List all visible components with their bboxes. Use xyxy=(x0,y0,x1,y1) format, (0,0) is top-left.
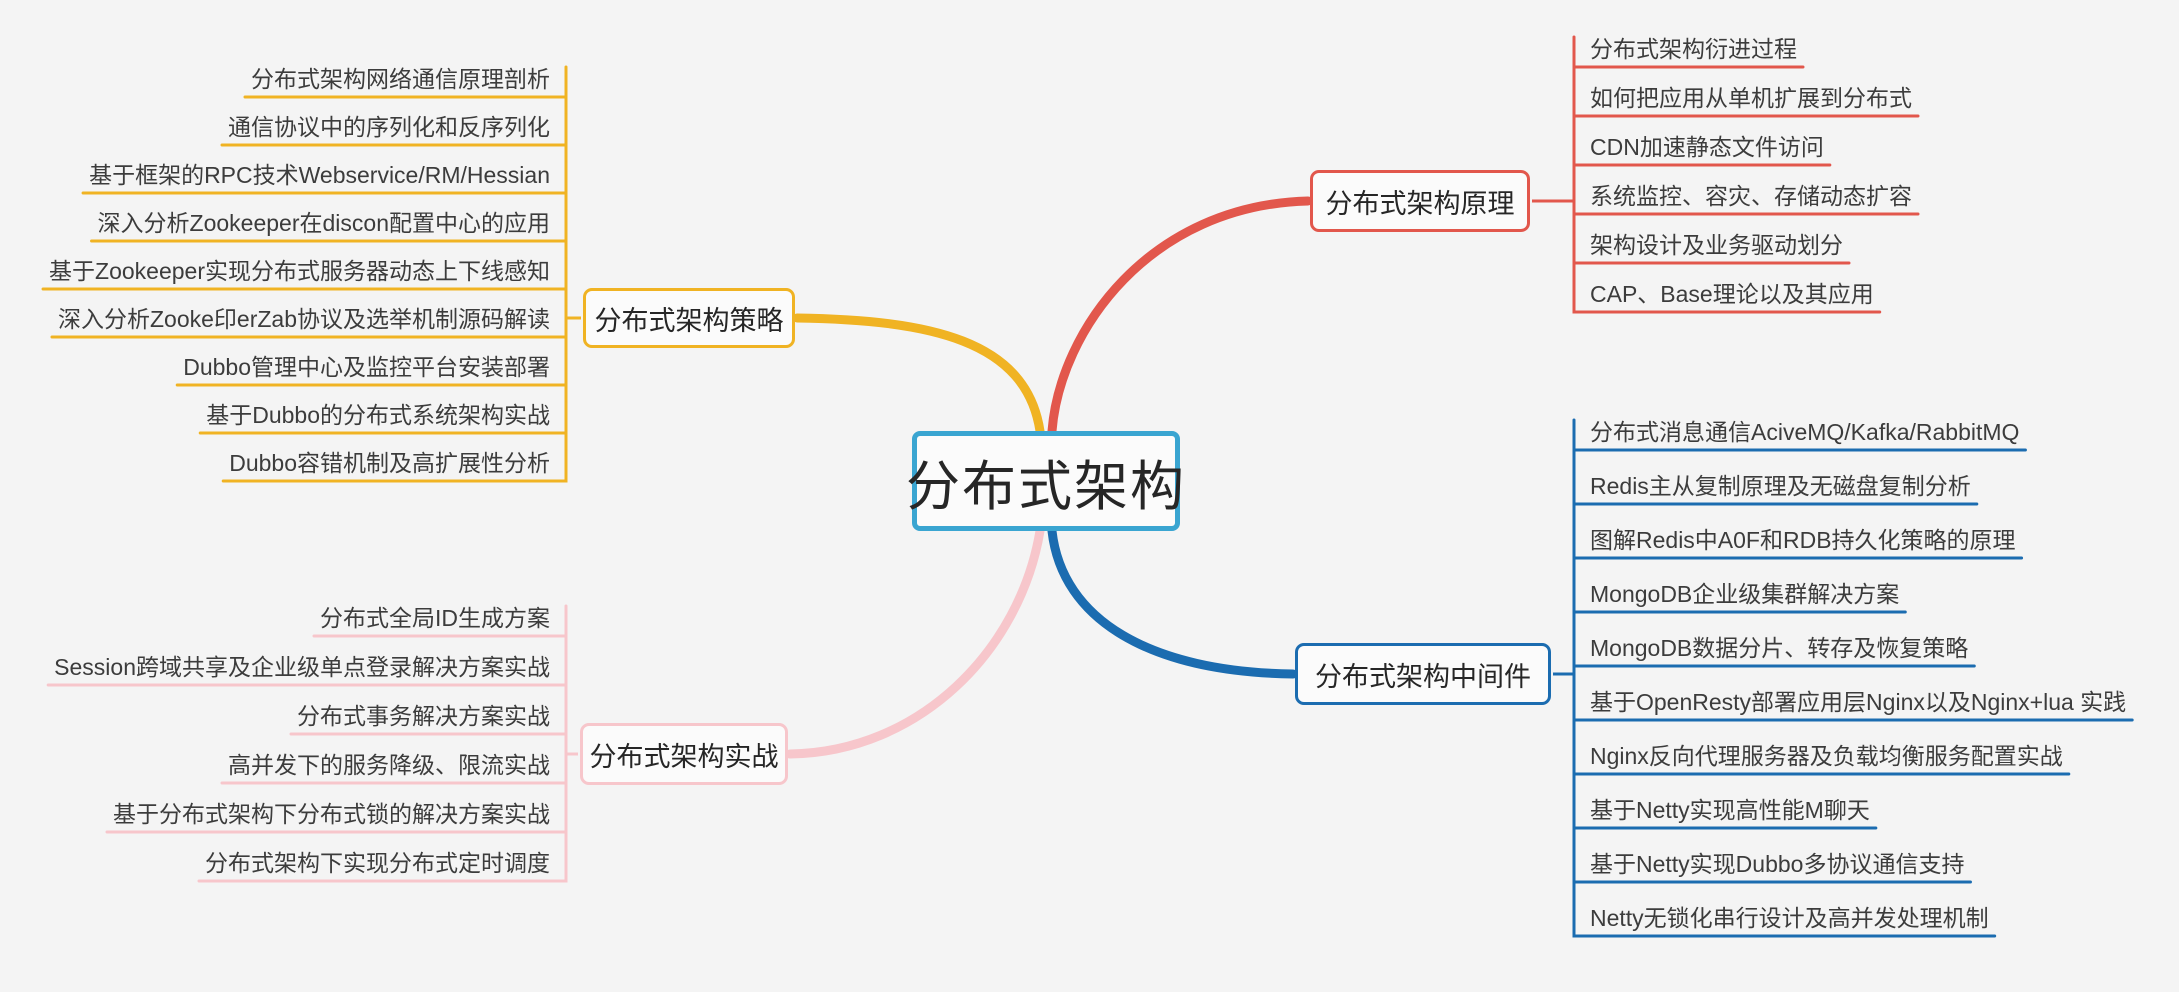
leaf-item-label: 通信协议中的序列化和反序列化 xyxy=(222,112,556,145)
leaf-item-label: CAP、Base理论以及其应用 xyxy=(1584,279,1880,312)
leaf-item[interactable]: Netty无锁化串行设计及高并发处理机制 xyxy=(1584,902,2173,936)
leaf-item[interactable]: 基于Netty实现Dubbo多协议通信支持 xyxy=(1584,848,2173,882)
branch-node-strategy[interactable]: 分布式架构策略 xyxy=(583,288,795,348)
branch-node-label: 分布式架构实战 xyxy=(590,735,779,774)
leaf-item-label: 基于Zookeeper实现分布式服务器动态上下线感知 xyxy=(43,256,556,289)
leaf-item[interactable]: MongoDB数据分片、转存及恢复策略 xyxy=(1584,632,2173,666)
leaf-item-label: 分布式消息通信AciveMQ/Kafka/RabbitMQ xyxy=(1584,417,2025,450)
edge-center-practice xyxy=(790,531,1040,754)
leaf-item[interactable]: 高并发下的服务降级、限流实战 xyxy=(0,749,556,783)
leaf-item-label: Netty无锁化串行设计及高并发处理机制 xyxy=(1584,903,1995,936)
leaf-item[interactable]: 如何把应用从单机扩展到分布式 xyxy=(1584,82,2173,116)
branch-node-label: 分布式架构原理 xyxy=(1326,182,1515,221)
leaf-item[interactable]: 图解Redis中A0F和RDB持久化策略的原理 xyxy=(1584,524,2173,558)
leaf-item[interactable]: 深入分析Zookeeper在discon配置中心的应用 xyxy=(0,207,556,241)
leaf-item-label: 分布式事务解决方案实战 xyxy=(291,701,556,734)
leaf-item[interactable]: 基于框架的RPC技术Webservice/RM/Hessian xyxy=(0,159,556,193)
leaf-item-label: 深入分析Zookeeper在discon配置中心的应用 xyxy=(92,208,556,241)
leaf-item[interactable]: 基于OpenResty部署应用层Nginx以及Nginx+lua 实践 xyxy=(1584,686,2173,720)
leaf-item-label: 分布式全局ID生成方案 xyxy=(314,603,556,636)
leaf-item[interactable]: 基于分布式架构下分布式锁的解决方案实战 xyxy=(0,798,556,832)
leaf-item[interactable]: 分布式架构衍进过程 xyxy=(1584,33,2173,67)
branch-node-middleware[interactable]: 分布式架构中间件 xyxy=(1295,643,1551,705)
leaf-item[interactable]: 基于Netty实现高性能M聊天 xyxy=(1584,794,2173,828)
leaf-item-label: 如何把应用从单机扩展到分布式 xyxy=(1584,83,1918,116)
leaf-item[interactable]: 分布式架构下实现分布式定时调度 xyxy=(0,847,556,881)
leaf-item-label: Dubbo管理中心及监控平台安装部署 xyxy=(177,352,556,385)
leaf-item-label: 基于框架的RPC技术Webservice/RM/Hessian xyxy=(83,160,556,193)
leaf-item-label: 基于分布式架构下分布式锁的解决方案实战 xyxy=(107,799,556,832)
leaf-item-label: Dubbo容错机制及高扩展性分析 xyxy=(223,448,556,481)
leaf-item[interactable]: 分布式架构网络通信原理剖析 xyxy=(0,63,556,97)
edge-center-principle xyxy=(1052,201,1308,431)
leaf-item[interactable]: 分布式事务解决方案实战 xyxy=(0,700,556,734)
leaf-item[interactable]: Nginx反向代理服务器及负载均衡服务配置实战 xyxy=(1584,740,2173,774)
leaf-item-label: Redis主从复制原理及无磁盘复制分析 xyxy=(1584,471,1977,504)
branch-node-principle[interactable]: 分布式架构原理 xyxy=(1310,170,1530,232)
leaf-item-label: Session跨域共享及企业级单点登录解决方案实战 xyxy=(48,652,556,685)
leaf-item-label: 架构设计及业务驱动划分 xyxy=(1584,230,1849,263)
center-node[interactable]: 分布式架构 xyxy=(912,431,1180,531)
leaf-item[interactable]: 通信协议中的序列化和反序列化 xyxy=(0,111,556,145)
leaf-item-label: MongoDB企业级集群解决方案 xyxy=(1584,579,1905,612)
leaf-item-label: MongoDB数据分片、转存及恢复策略 xyxy=(1584,633,1974,666)
leaf-item[interactable]: 深入分析Zooke印erZab协议及选举机制源码解读 xyxy=(0,303,556,337)
leaf-item-label: 分布式架构下实现分布式定时调度 xyxy=(199,848,556,881)
leaf-item-label: 高并发下的服务降级、限流实战 xyxy=(222,750,556,783)
leaf-item[interactable]: 系统监控、容灾、存储动态扩容 xyxy=(1584,180,2173,214)
leaf-item-label: 分布式架构衍进过程 xyxy=(1584,34,1803,67)
leaf-item[interactable]: 分布式消息通信AciveMQ/Kafka/RabbitMQ xyxy=(1584,416,2173,450)
leaf-item-label: 系统监控、容灾、存储动态扩容 xyxy=(1584,181,1918,214)
edge-center-strategy xyxy=(797,318,1040,431)
branch-node-practice[interactable]: 分布式架构实战 xyxy=(580,723,788,785)
branch-node-label: 分布式架构中间件 xyxy=(1315,655,1531,694)
leaf-item[interactable]: CAP、Base理论以及其应用 xyxy=(1584,278,2173,312)
leaf-item[interactable]: Redis主从复制原理及无磁盘复制分析 xyxy=(1584,470,2173,504)
leaf-item-label: Nginx反向代理服务器及负载均衡服务配置实战 xyxy=(1584,741,2069,774)
leaf-item[interactable]: CDN加速静态文件访问 xyxy=(1584,131,2173,165)
center-node-label: 分布式架构 xyxy=(906,442,1186,521)
leaf-item[interactable]: MongoDB企业级集群解决方案 xyxy=(1584,578,2173,612)
edge-center-middleware xyxy=(1052,531,1293,674)
leaf-item[interactable]: Dubbo容错机制及高扩展性分析 xyxy=(0,447,556,481)
leaf-item-label: 图解Redis中A0F和RDB持久化策略的原理 xyxy=(1584,525,2022,558)
leaf-item[interactable]: Session跨域共享及企业级单点登录解决方案实战 xyxy=(0,651,556,685)
leaf-item[interactable]: 基于Dubbo的分布式系统架构实战 xyxy=(0,399,556,433)
leaf-item-label: 基于Netty实现Dubbo多协议通信支持 xyxy=(1584,849,1970,882)
leaf-item[interactable]: 基于Zookeeper实现分布式服务器动态上下线感知 xyxy=(0,255,556,289)
branch-node-label: 分布式架构策略 xyxy=(595,299,784,338)
leaf-item-label: 深入分析Zooke印erZab协议及选举机制源码解读 xyxy=(52,304,556,337)
leaf-item-label: 基于Netty实现高性能M聊天 xyxy=(1584,795,1876,828)
leaf-item[interactable]: Dubbo管理中心及监控平台安装部署 xyxy=(0,351,556,385)
leaf-item-label: 分布式架构网络通信原理剖析 xyxy=(245,64,556,97)
leaf-item-label: 基于OpenResty部署应用层Nginx以及Nginx+lua 实践 xyxy=(1584,687,2132,720)
leaf-item[interactable]: 架构设计及业务驱动划分 xyxy=(1584,229,2173,263)
mindmap-canvas: 分布式架构策略分布式架构网络通信原理剖析通信协议中的序列化和反序列化基于框架的R… xyxy=(0,0,2179,992)
leaf-item[interactable]: 分布式全局ID生成方案 xyxy=(0,602,556,636)
leaf-item-label: 基于Dubbo的分布式系统架构实战 xyxy=(200,400,556,433)
leaf-item-label: CDN加速静态文件访问 xyxy=(1584,132,1830,165)
